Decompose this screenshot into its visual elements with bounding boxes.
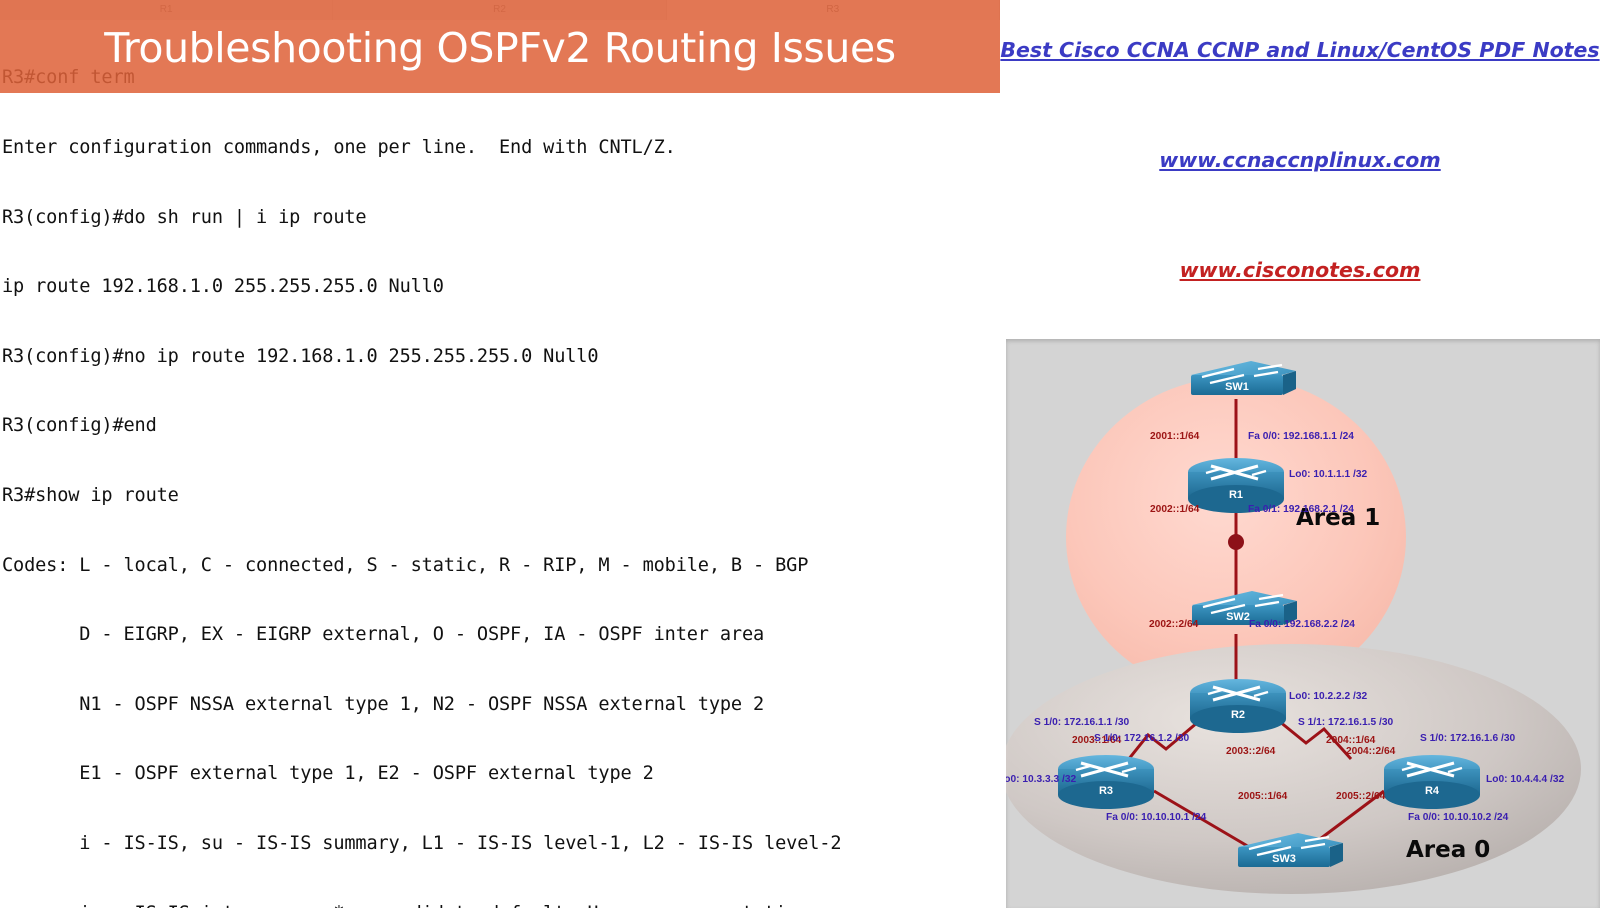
label-r2-s11: S 1/1: 172.16.1.5 /30 [1298,717,1393,728]
terminal-line: R3#show ip route [2,484,1000,507]
label-r1-fa00: Fa 0/0: 192.168.1.1 /24 [1248,431,1354,442]
terminal-window: R1 R2 R3 R3#conf term Enter configuratio… [0,0,1000,908]
label-r1-lo0: Lo0: 10.1.1.1 /32 [1289,469,1367,480]
area-0-label: Area 0 [1406,837,1490,863]
link-junction-dot [1228,534,1244,550]
device-label-sw1: SW1 [1225,381,1249,393]
terminal-line: N1 - OSPF NSSA external type 1, N2 - OSP… [2,693,1000,716]
label-r4-lo0: Lo0: 10.4.4.4 /32 [1486,774,1564,785]
label-r2-v6-top: 2002::2/64 [1149,619,1199,630]
terminal-line: ip route 192.168.1.0 255.255.255.0 Null0 [2,275,1000,298]
terminal-line: ia - IS-IS inter area, * - candidate def… [2,902,1000,908]
terminal-line: R3#conf term [2,66,1000,89]
terminal-line: R3(config)#no ip route 192.168.1.0 255.2… [2,345,1000,368]
label-r4-v6-sw: 2005::2/64 [1336,791,1386,802]
terminal-line: R3(config)#end [2,414,1000,437]
cisconotes-link-row: www.cisconotes.com [1000,258,1600,282]
label-r2-fa00: Fa 0/0: 192.168.2.2 /24 [1249,619,1355,630]
ccnaccnplinux-link[interactable]: www.ccnaccnplinux.com [1159,148,1440,172]
pdf-notes-link[interactable]: Best Cisco CCNA CCNP and Linux/CentOS PD… [1000,38,1599,62]
terminal-line: Codes: L - local, C - connected, S - sta… [2,554,1000,577]
label-r3-s10: S 1/0: 172.16.1.2 /30 [1094,733,1189,744]
label-r4-s10: S 1/0: 172.16.1.6 /30 [1420,733,1515,744]
label-r3-lo0: Lo0: 10.3.3.3 /32 [1006,774,1076,785]
label-r4-fa00: Fa 0/0: 10.10.10.2 /24 [1408,812,1509,823]
network-topology-diagram: SW1 R1 SW2 [1006,339,1600,908]
device-label-sw2: SW2 [1226,611,1250,623]
label-r2-lo0: Lo0: 10.2.2.2 /32 [1289,691,1367,702]
device-label-r4: R4 [1425,785,1440,797]
device-label-r1: R1 [1229,489,1243,501]
label-r1-fa01: Fa 0/1: 192.168.2.1 /24 [1248,504,1354,515]
label-r1-v6-bot: 2002::1/64 [1150,504,1200,515]
terminal-line: R3(config)#do sh run | i ip route [2,206,1000,229]
device-label-r3: R3 [1099,785,1113,797]
label-r3-s10-v6: 2003::2/64 [1226,746,1276,757]
label-r4-s10-v6: 2004::2/64 [1346,746,1396,757]
terminal-line: i - IS-IS, su - IS-IS summary, L1 - IS-I… [2,832,1000,855]
terminal-tab-r2[interactable]: R2 [333,0,666,20]
device-sw1: SW1 [1191,361,1296,395]
terminal-tab-r3[interactable]: R3 [667,0,1000,20]
device-r4: R4 [1384,755,1480,809]
page-root: R1 R2 R3 R3#conf term Enter configuratio… [0,0,1600,908]
terminal-line: D - EIGRP, EX - EIGRP external, O - OSPF… [2,623,1000,646]
device-label-r2: R2 [1231,709,1245,721]
terminal-tab-bar: R1 R2 R3 [0,0,1000,20]
cisconotes-link[interactable]: www.cisconotes.com [1180,258,1421,282]
pdf-notes-link-row: Best Cisco CCNA CCNP and Linux/CentOS PD… [1000,38,1600,62]
terminal-output[interactable]: R3#conf term Enter configuration command… [0,20,1000,908]
label-r2-s11-v6: 2004::1/64 [1326,735,1376,746]
label-r3-fa00: Fa 0/0: 10.10.10.1 /24 [1106,812,1207,823]
label-r1-v6-top: 2001::1/64 [1150,431,1200,442]
terminal-tab-r1[interactable]: R1 [0,0,333,20]
label-r2-s10: S 1/0: 172.16.1.1 /30 [1034,717,1129,728]
terminal-line: E1 - OSPF external type 1, E2 - OSPF ext… [2,762,1000,785]
terminal-line: Enter configuration commands, one per li… [2,136,1000,159]
label-r3-v6-sw: 2005::1/64 [1238,791,1288,802]
device-r2: R2 [1190,679,1286,733]
device-label-sw3: SW3 [1272,853,1296,865]
ccnaccnplinux-link-row: www.ccnaccnplinux.com [1000,148,1600,172]
right-panel: Best Cisco CCNA CCNP and Linux/CentOS PD… [1000,0,1600,908]
